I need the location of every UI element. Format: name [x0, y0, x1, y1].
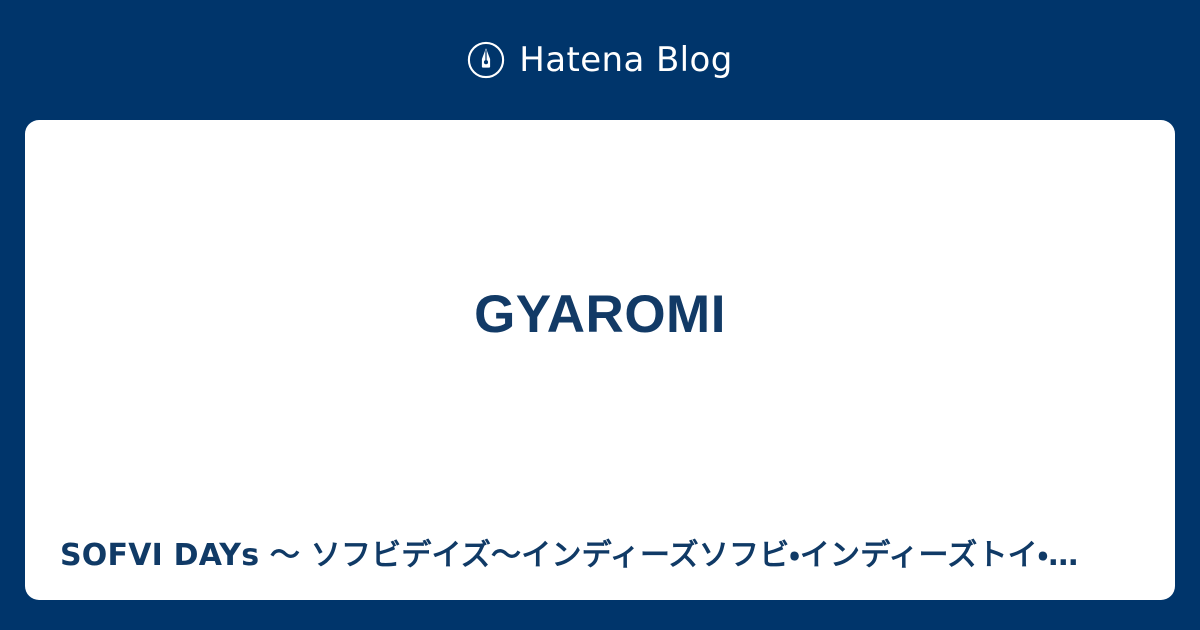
hatena-pen-nib-icon	[467, 41, 505, 79]
entry-title-container: GYAROMI	[25, 120, 1175, 510]
brand-name-label: Hatena Blog	[519, 43, 732, 77]
og-card: Hatena Blog GYAROMI SOFVI DAYs 〜 ソフビデイズ〜…	[0, 0, 1200, 630]
content-card: GYAROMI SOFVI DAYs 〜 ソフビデイズ〜インディーズソフビ・イン…	[25, 120, 1175, 600]
blog-title: SOFVI DAYs 〜 ソフビデイズ〜インディーズソフビ・インディーズトイ・…	[60, 536, 1078, 575]
entry-title: GYAROMI	[474, 284, 726, 347]
brand-header: Hatena Blog	[0, 0, 1200, 120]
blog-title-container: SOFVI DAYs 〜 ソフビデイズ〜インディーズソフビ・インディーズトイ・…	[25, 510, 1175, 600]
